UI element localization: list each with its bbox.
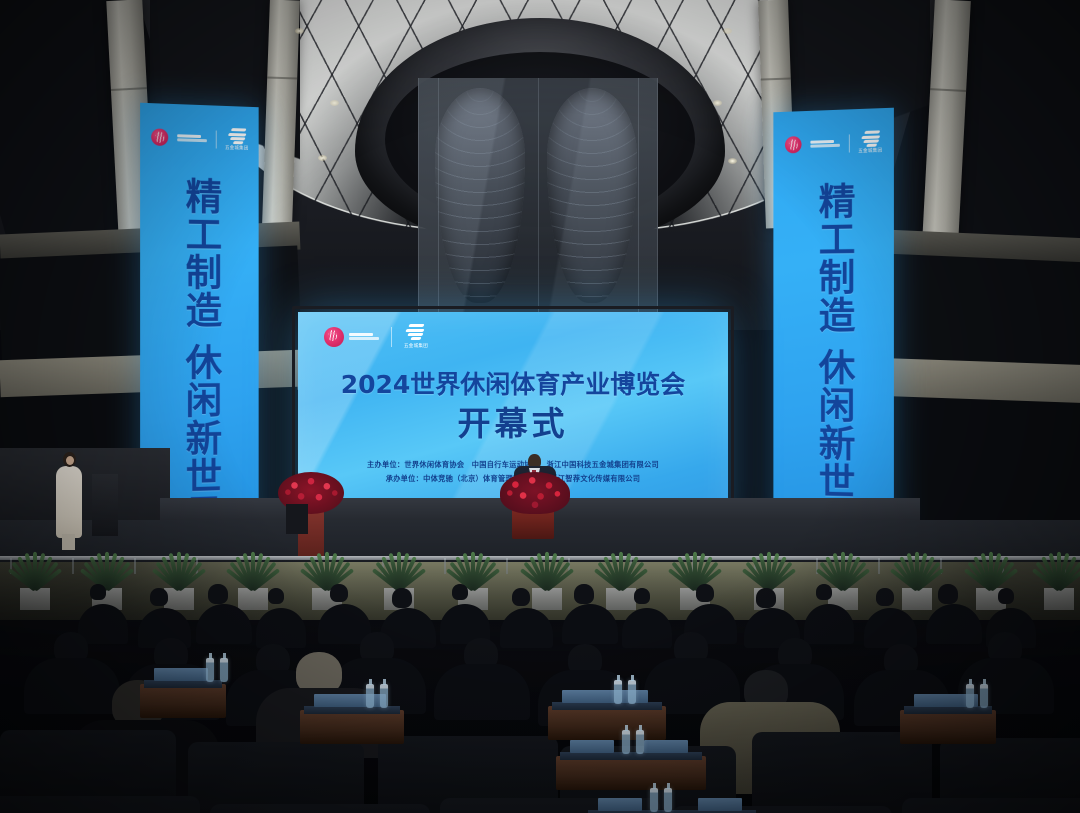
hardware-city-wave-logo: 五金城集团 [404, 324, 428, 349]
water-bottle-icon [380, 684, 388, 708]
wave-icon [861, 130, 879, 147]
led-banner-right: 五金城集团 精工制造 休闲新世界 [773, 108, 894, 545]
attendee-head [268, 588, 284, 604]
audience-table [556, 756, 706, 790]
wave-logo-caption: 五金城集团 [225, 145, 248, 152]
name-card [562, 690, 606, 703]
audience-table [140, 684, 226, 718]
audience-table-top [560, 752, 702, 760]
column-mullion [438, 78, 439, 333]
event-photo-scene: 五金城集团 精工制造 休闲新世界 五金城集团 精工制造 休闲新世界 [0, 0, 1080, 813]
logo-divider [848, 134, 849, 152]
seat-chairback [902, 798, 1080, 813]
ceiling-spotlight [318, 155, 327, 161]
logo-divider [215, 130, 216, 148]
banner-right-slogan: 精工制造 休闲新世界 [814, 182, 852, 539]
attendee-shoulders [24, 658, 120, 714]
attendee-head [392, 588, 412, 608]
ceiling-spotlight [723, 28, 732, 34]
audience-table [548, 706, 666, 740]
attendee-head [90, 584, 106, 600]
expo-logo-wordmark [810, 140, 840, 148]
stage-monitor [286, 504, 308, 534]
attendee-head [634, 588, 650, 604]
seat-chairback [210, 804, 430, 813]
attendee-shoulders [434, 664, 530, 720]
stage-host-legs [62, 534, 75, 550]
leisure-sports-expo-logo [324, 327, 344, 347]
attendee-head [998, 588, 1014, 604]
water-bottle-icon [614, 680, 622, 704]
water-bottle-icon [980, 684, 988, 708]
audience-table [900, 710, 996, 744]
attendee-head [574, 584, 594, 604]
event-subtitle: 开幕式 [298, 397, 728, 445]
name-card [604, 690, 648, 703]
expo-logo-wordmark [177, 134, 207, 142]
water-bottle-icon [664, 788, 672, 812]
attendee-head [330, 584, 348, 602]
stage-loudspeaker [92, 474, 118, 536]
attendee-head [150, 588, 168, 606]
stage-host-body [56, 466, 82, 538]
name-card [164, 668, 208, 681]
water-bottle-icon [628, 680, 636, 704]
leisure-sports-expo-logo [151, 128, 168, 146]
leisure-sports-expo-logo [785, 136, 802, 153]
event-title: 2024世界休闲体育产业博览会 [298, 365, 728, 401]
banner-right-logo-row: 五金城集团 [773, 130, 894, 157]
flower-icon [500, 472, 570, 514]
water-bottle-icon [622, 730, 630, 754]
banner-left-slogan: 精工制造 休闲新世界 [181, 177, 219, 534]
ceiling-spotlight [728, 158, 737, 164]
screen-logo-row: 五金城集团 [324, 324, 428, 349]
ceiling-spotlight [713, 100, 722, 106]
water-bottle-icon [206, 658, 214, 682]
column-mullion [638, 78, 639, 333]
wave-logo-caption: 五金城集团 [404, 343, 428, 349]
attendee-head [452, 584, 468, 600]
attendee-head [696, 584, 714, 602]
attendee-head [816, 584, 832, 600]
banner-left-logo-row: 五金城集团 [140, 125, 259, 152]
audience-area [0, 560, 1080, 813]
water-bottle-icon [220, 658, 228, 682]
water-bottle-icon [636, 730, 644, 754]
attendee-head [756, 588, 776, 608]
name-card [570, 740, 614, 753]
wave-icon [228, 128, 246, 144]
stage-host-face [66, 456, 74, 465]
attendee-head [208, 584, 228, 604]
organizers-line-1: 主办单位：世界休闲体育协会 中国自行车运动协会 浙江中国科技五金城集团有限公司 [298, 460, 728, 470]
banner-right-text-wrap: 精工制造 休闲新世界 [773, 180, 894, 540]
seat-chairback [0, 796, 200, 813]
water-bottle-icon [966, 684, 974, 708]
name-card [698, 798, 742, 811]
name-card [644, 740, 688, 753]
column-mullion [538, 78, 539, 333]
audience-table-top [552, 702, 662, 710]
expo-logo-wordmark [349, 333, 379, 340]
water-bottle-icon [366, 684, 374, 708]
hardware-city-wave-logo: 五金城集团 [225, 128, 248, 152]
attendee-head [512, 588, 530, 606]
ceiling-spotlight [330, 100, 339, 106]
hardware-city-wave-logo: 五金城集团 [858, 130, 882, 154]
attendee-head [876, 588, 894, 606]
audience-table [300, 710, 404, 744]
wave-icon [406, 324, 427, 342]
water-bottle-icon [650, 788, 658, 812]
ceiling-spotlight [295, 28, 304, 34]
attendee-head [938, 584, 958, 604]
seat-chairback [188, 742, 364, 813]
wave-logo-caption: 五金城集团 [858, 147, 882, 154]
audience-table-top [904, 706, 992, 714]
name-card [598, 798, 642, 811]
logo-divider [391, 327, 392, 347]
